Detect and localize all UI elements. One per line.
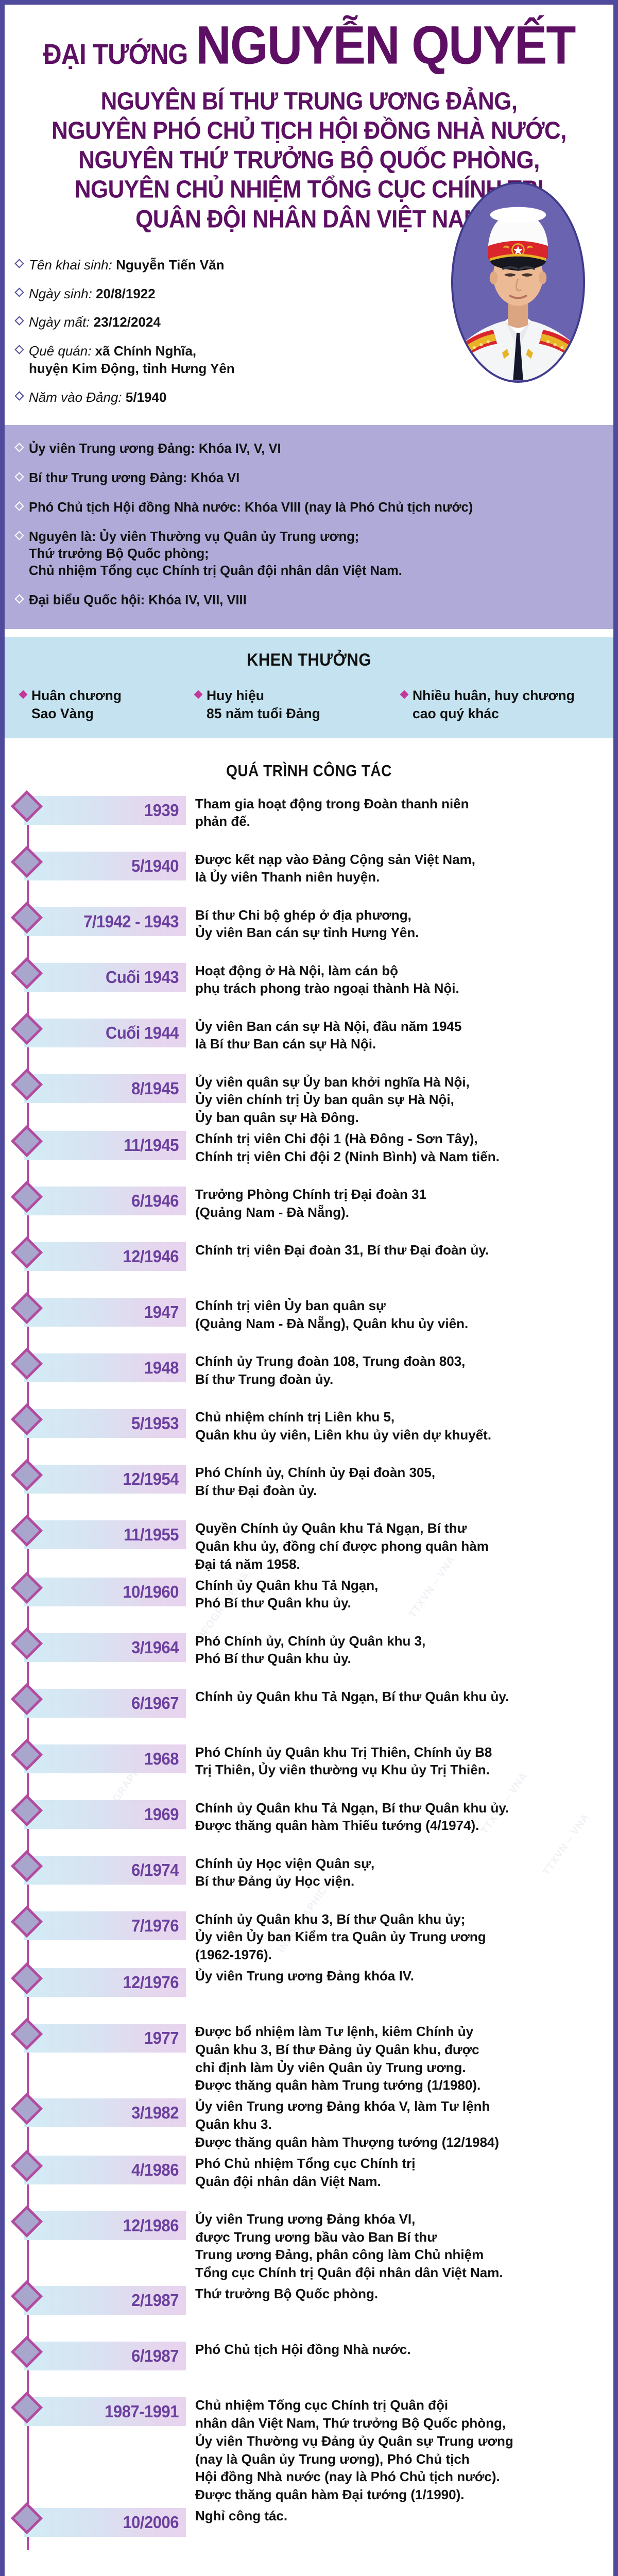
- timeline-node: [5, 2282, 49, 2308]
- timeline-description-line: Quân khu 3.: [195, 2115, 602, 2133]
- timeline-description-line: Bí thư Đảng ủy Học viện.: [195, 1872, 602, 1890]
- timeline-node: [5, 792, 49, 818]
- timeline-rows: 1939Tham gia hoạt động trong Đoàn thanh …: [5, 792, 605, 2560]
- timeline-description: Chủ nhiệm Tổng cục Chính trị Quân độinhâ…: [186, 2393, 605, 2504]
- diamond-node-icon: [11, 2150, 43, 2182]
- position-text: Ủy viên Trung ương Đảng: Khóa IV, V, VI: [29, 440, 281, 457]
- timeline-description-line: Đại tá năm 1958.: [195, 1555, 602, 1573]
- timeline-description-line: Bí thư Chi bộ ghép ở địa phương,: [195, 906, 602, 924]
- timeline-date-label: 6/1967: [131, 1693, 179, 1713]
- diamond-bullet-icon: [14, 345, 24, 354]
- timeline-entry: 7/1942 - 1943Bí thư Chi bộ ghép ở địa ph…: [5, 903, 605, 959]
- timeline-node: [5, 2207, 49, 2233]
- diamond-node-icon: [11, 1068, 43, 1100]
- award-line-2: cao quý khác: [413, 706, 499, 721]
- timeline-description-line: Chính trị viên Đại đoàn 31, Bí thư Đại đ…: [195, 1241, 602, 1259]
- timeline-node: [5, 903, 49, 929]
- timeline-node: [5, 1070, 49, 1096]
- subtitle-line-1: NGUYÊN BÍ THƯ TRUNG ƯƠNG ĐẢNG,: [25, 85, 593, 117]
- award-line-1: Huy hiệu: [207, 688, 264, 703]
- timeline-description: Phó Chính ủy, Chính ủy Đại đoàn 305,Bí t…: [186, 1461, 605, 1500]
- timeline-description-line: Trung ương Đảng, phân công làm Chủ nhiệm: [195, 2246, 602, 2264]
- diamond-node-icon: [11, 845, 43, 877]
- timeline-description: Chính ủy Quân khu Tả Ngạn,Phó Bí thư Quâ…: [186, 1573, 605, 1613]
- bio-label: Quê quán:: [29, 343, 91, 359]
- diamond-node-icon: [11, 2280, 43, 2312]
- timeline-date-label: 1948: [144, 1358, 179, 1378]
- diamond-node-icon: [11, 901, 43, 933]
- bio-label: Năm vào Đảng:: [29, 389, 122, 405]
- timeline-description-line: Bí thư Trung đoàn ủy.: [195, 1370, 602, 1388]
- position-text: Phó Chủ tịch Hội đồng Nhà nước: Khóa VII…: [29, 499, 473, 516]
- timeline-description: Ủy viên Ban cán sự Hà Nội, đầu năm 1945l…: [186, 1014, 605, 1054]
- diamond-node-icon: [11, 1403, 43, 1435]
- timeline-description-line: Nghỉ công tác.: [195, 2507, 602, 2525]
- timeline-date-label: 3/1964: [131, 1637, 179, 1657]
- person-name: NGUYỄN QUYẾT: [196, 18, 575, 73]
- timeline-node: [5, 1796, 49, 1822]
- timeline-description-line: Quyền Chính ủy Quân khu Tả Ngạn, Bí thư: [195, 1519, 602, 1537]
- timeline-description-line: phụ trách phong trào ngoại thành Hà Nội.: [195, 979, 602, 997]
- timeline-node: [5, 2504, 49, 2530]
- timeline-description: Nghỉ công tác.: [186, 2504, 605, 2525]
- timeline-node: [5, 848, 49, 873]
- title-block: ĐẠI TƯỚNG NGUYỄN QUYẾT: [25, 23, 593, 73]
- infographic-canvas: ĐẠI TƯỚNG NGUYỄN QUYẾT NGUYÊN BÍ THƯ TRU…: [5, 5, 613, 2576]
- timeline-description-line: Chủ nhiệm chính trị Liên khu 5,: [195, 1408, 602, 1426]
- timeline-node: [5, 1405, 49, 1431]
- portrait-illustration: [453, 184, 583, 381]
- timeline-description-line: (1962-1976).: [195, 1946, 602, 1964]
- timeline-date-label: 11/1945: [124, 1136, 179, 1156]
- timeline-node: [5, 2094, 49, 2120]
- timeline-description-line: Ủy viên Ủy ban Kiểm tra Quân ủy Trung ươ…: [195, 1928, 602, 1946]
- award-item-85-year-party-badge: Huy hiệu 85 năm tuổi Đảng: [195, 687, 401, 723]
- timeline-description-line: Quân khu 3, Bí thư Đảng ủy Quân khu, đượ…: [195, 2041, 602, 2059]
- awards-grid: Huân chương Sao Vàng Huy hiệu 85 năm tuổ…: [15, 687, 603, 723]
- diamond-node-icon: [11, 1962, 43, 1994]
- timeline-description-line: Phó Chính ủy, Chính ủy Quân khu 3,: [195, 1632, 602, 1650]
- timeline-entry: 6/1967Chính ủy Quân khu Tả Ngạn, Bí thư …: [5, 1685, 605, 1740]
- timeline-node: [5, 1907, 49, 1933]
- timeline-description-line: Phó Chủ tịch Hội đồng Nhà nước.: [195, 2341, 602, 2359]
- award-line-1: Nhiều huân, huy chương: [413, 688, 575, 703]
- timeline-node: [5, 1461, 49, 1486]
- timeline-description: Tham gia hoạt động trong Đoàn thanh niên…: [186, 792, 605, 831]
- timeline-entry: 1948Chính ủy Trung đoàn 108, Trung đoàn …: [5, 1349, 605, 1405]
- timeline-description: Trưởng Phòng Chính trị Đại đoàn 31(Quảng…: [186, 1182, 605, 1222]
- timeline-node: [5, 2337, 49, 2363]
- timeline-description: Phó Chính ủy Quân khu Trị Thiên, Chính ủ…: [186, 1740, 605, 1780]
- awards-title: KHEN THƯỞNG: [15, 649, 603, 670]
- timeline-description-line: Ủy ban quân sự Hà Đông.: [195, 1109, 602, 1127]
- diamond-bullet-icon: [14, 391, 24, 400]
- timeline-description-line: nhân dân Việt Nam, Thứ trưởng Bộ Quốc ph…: [195, 2414, 602, 2432]
- timeline-node: [5, 1294, 49, 1319]
- timeline-node: [5, 1349, 49, 1375]
- diamond-node-icon: [11, 1012, 43, 1044]
- timeline-description-line: Chính ủy Quân khu Tả Ngạn, Bí thư Quân k…: [195, 1799, 602, 1817]
- timeline-description: Bí thư Chi bộ ghép ở địa phương,Ủy viên …: [186, 903, 605, 942]
- timeline-entry: Cuối 1943Hoạt động ở Hà Nội, làm cán bộp…: [5, 959, 605, 1014]
- timeline-description: Được bổ nhiệm làm Tư lệnh, kiêm Chính ủy…: [186, 2020, 605, 2094]
- timeline-entry: 1947Chính trị viên Ủy ban quân sự(Quảng …: [5, 1294, 605, 1349]
- timeline-description: Chính ủy Học viện Quân sự,Bí thư Đảng ủy…: [186, 1852, 605, 1891]
- timeline-date-label: 1987-1991: [105, 2402, 179, 2422]
- timeline-node: [5, 1740, 49, 1766]
- timeline-entry: 6/1946Trưởng Phòng Chính trị Đại đoàn 31…: [5, 1182, 605, 1238]
- timeline-entry: 7/1976Chính ủy Quân khu 3, Bí thư Quân k…: [5, 1907, 605, 1964]
- timeline-description-line: Phó Bí thư Quân khu ủy.: [195, 1650, 602, 1668]
- timeline-description: Quyền Chính ủy Quân khu Tả Ngạn, Bí thưQ…: [186, 1516, 605, 1573]
- diamond-node-icon: [11, 1571, 43, 1603]
- award-item-gold-star-order: Huân chương Sao Vàng: [20, 687, 195, 723]
- timeline-date-label: 5/1953: [131, 1414, 179, 1434]
- timeline-date-label: 5/1940: [131, 856, 179, 876]
- bio-value: 5/1940: [126, 389, 167, 405]
- timeline-description-line: Chính ủy Trung đoàn 108, Trung đoàn 803,: [195, 1352, 602, 1370]
- timeline-description-line: (nay là Quân ủy Trung ương), Phó Chủ tịc…: [195, 2450, 602, 2468]
- diamond-node-icon: [11, 1738, 43, 1770]
- timeline-entry: 5/1953Chủ nhiệm chính trị Liên khu 5,Quâ…: [5, 1405, 605, 1461]
- timeline-description-line: Bí thư Đại đoàn ủy.: [195, 1482, 602, 1500]
- bio-row-party-year: Năm vào Đảng: 5/1940: [16, 389, 345, 406]
- timeline-description: Được kết nạp vào Đảng Cộng sản Việt Nam,…: [186, 848, 605, 887]
- award-line-2: Sao Vàng: [31, 706, 94, 721]
- bio-label: Ngày sinh:: [29, 286, 92, 301]
- timeline-description-line: Chính ủy Quân khu Tả Ngạn, Bí thư Quân k…: [195, 1688, 602, 1706]
- bio-row-birth-date: Ngày sinh: 20/8/1922: [16, 285, 345, 303]
- diamond-node-icon: [11, 1850, 43, 1882]
- timeline-entry: 3/1982Ủy viên Trung ương Đảng khóa V, là…: [5, 2094, 605, 2151]
- bio-value: Nguyễn Tiến Văn: [116, 257, 224, 273]
- diamond-node-icon: [11, 2093, 43, 2125]
- bio-value: xã Chính Nghĩa,: [95, 343, 196, 359]
- timeline-entry: 1969Chính ủy Quân khu Tả Ngạn, Bí thư Qu…: [5, 1796, 605, 1852]
- timeline-description: Chính ủy Quân khu 3, Bí thư Quân khu ủy;…: [186, 1907, 605, 1964]
- timeline-node: [5, 959, 49, 985]
- timeline-description: Hoạt động ở Hà Nội, làm cán bộphụ trách …: [186, 959, 605, 998]
- timeline-description-line: là Bí thư Ban cán sự Hà Nội.: [195, 1035, 602, 1053]
- rank-text: ĐẠI TƯỚNG: [43, 40, 188, 69]
- timeline-entry: 6/1987Phó Chủ tịch Hội đồng Nhà nước.: [5, 2337, 605, 2393]
- timeline-description-line: Ủy viên Ban cán sự Hà Nội, đầu năm 1945: [195, 1018, 602, 1036]
- diamond-node-icon: [11, 1236, 43, 1268]
- diamond-node-icon: [11, 1794, 43, 1826]
- timeline-node: [5, 1685, 49, 1710]
- position-row-former-roles: Nguyên là: Ủy viên Thường vụ Quân ủy Tru…: [16, 529, 600, 580]
- timeline-entry: Cuối 1944Ủy viên Ban cán sự Hà Nội, đầu …: [5, 1014, 605, 1070]
- timeline-date-label: 10/1960: [123, 1582, 179, 1602]
- diamond-bullet-icon: [14, 287, 24, 297]
- timeline-description: Ủy viên Trung ương Đảng khóa IV.: [186, 1964, 605, 1985]
- timeline-description-line: Được bổ nhiệm làm Tư lệnh, kiêm Chính ủy: [195, 2023, 602, 2041]
- timeline-entry: 2/1987Thứ trưởng Bộ Quốc phòng.: [5, 2282, 605, 2337]
- timeline-date-label: 11/1955: [124, 1525, 179, 1545]
- timeline-date-label: 6/1946: [131, 1191, 179, 1211]
- diamond-node-icon: [11, 2206, 43, 2238]
- timeline-node: [5, 1127, 49, 1153]
- diamond-bullet-icon: [14, 472, 24, 481]
- diamond-node-icon: [11, 1125, 43, 1157]
- timeline-date-label: 12/1946: [123, 1247, 179, 1267]
- timeline-date-label: 2/1987: [131, 2291, 179, 2311]
- portrait-photo: [451, 182, 585, 383]
- timeline: 1939Tham gia hoạt động trong Đoàn thanh …: [5, 792, 613, 2560]
- timeline-date-label: 12/1976: [123, 1973, 179, 1993]
- bio-value: 23/12/2024: [94, 314, 161, 330]
- timeline-node: [5, 1573, 49, 1599]
- timeline-description: Phó Chủ tịch Hội đồng Nhà nước.: [186, 2337, 605, 2359]
- bio-label: Tên khai sinh:: [29, 257, 112, 273]
- timeline-description-line: Tổng cục Chính trị Quân đội nhân dân Việ…: [195, 2264, 602, 2282]
- timeline-node: [5, 1964, 49, 1990]
- diamond-node-icon: [11, 1683, 43, 1715]
- timeline-description-line: Được thăng quân hàm Đại tướng (1/1990).: [195, 2486, 602, 2504]
- timeline-date-label: 3/1982: [131, 2103, 179, 2123]
- timeline-date-label: 10/2006: [123, 2513, 179, 2533]
- diamond-node-icon: [11, 2502, 43, 2534]
- timeline-description-line: Hội đồng Nhà nước (nay là Phó Chủ tịch n…: [195, 2468, 602, 2486]
- diamond-bullet-icon: [14, 595, 24, 604]
- diamond-node-icon: [11, 1627, 43, 1659]
- position-text: Bí thư Trung ương Đảng: Khóa VI: [29, 470, 239, 487]
- timeline-entry: 8/1945Ủy viên quân sự Ủy ban khởi nghĩa …: [5, 1070, 605, 1127]
- timeline-description-line: Được thăng quân hàm Thượng tướng (12/198…: [195, 2133, 602, 2151]
- timeline-entry: 12/1946Chính trị viên Đại đoàn 31, Bí th…: [5, 1238, 605, 1294]
- timeline-description: Thứ trưởng Bộ Quốc phòng.: [186, 2282, 605, 2303]
- timeline-description-line: Phó Chính ủy Quân khu Trị Thiên, Chính ủ…: [195, 1743, 602, 1761]
- timeline-description-line: Chính ủy Quân khu Tả Ngạn,: [195, 1577, 602, 1595]
- timeline-description-line: chỉ định làm Ủy viên Quân ủy Trung ương.: [195, 2059, 602, 2077]
- timeline-date-label: 1977: [144, 2028, 179, 2048]
- bio-value-cont: huyện Kim Động, tỉnh Hưng Yên: [29, 361, 235, 376]
- timeline-node: [5, 1516, 49, 1542]
- position-text: Đại biểu Quốc hội: Khóa IV, VII, VIII: [29, 592, 247, 609]
- timeline-node: [5, 1852, 49, 1877]
- position-row-vice-chair-state-council: Phó Chủ tịch Hội đồng Nhà nước: Khóa VII…: [16, 499, 600, 516]
- diamond-node-icon: [11, 2392, 43, 2424]
- diamond-node-icon: [11, 1459, 43, 1491]
- diamond-node-icon: [11, 1515, 43, 1547]
- timeline-entry: 4/1986Phó Chủ nhiệm Tổng cục Chính trịQu…: [5, 2151, 605, 2207]
- diamond-node-icon: [11, 1181, 43, 1213]
- timeline-description-line: Trưởng Phòng Chính trị Đại đoàn 31: [195, 1185, 602, 1204]
- timeline-description-line: Phó Chính ủy, Chính ủy Đại đoàn 305,: [195, 1464, 602, 1482]
- timeline-description-line: Chính ủy Học viện Quân sự,: [195, 1855, 602, 1873]
- timeline-description-line: Trị Thiên, Ủy viên thường vụ Khu ủy Trị …: [195, 1761, 602, 1779]
- timeline-entry: 12/1986Ủy viên Trung ương Đảng khóa VI,đ…: [5, 2207, 605, 2282]
- timeline-description-line: Quân khu ủy viên, Liên khu ủy viên dự kh…: [195, 1426, 602, 1444]
- timeline-description-line: phản đế.: [195, 812, 602, 831]
- timeline-description-line: Được thăng quân hàm Thiếu tướng (4/1974)…: [195, 1817, 602, 1835]
- timeline-description: Ủy viên Trung ương Đảng khóa VI,được Tru…: [186, 2207, 605, 2282]
- timeline-date-label: 8/1945: [131, 1078, 179, 1098]
- timeline-entry: 10/1960Chính ủy Quân khu Tả Ngạn,Phó Bí …: [5, 1573, 605, 1629]
- timeline-entry: 1987-1991Chủ nhiệm Tổng cục Chính trị Qu…: [5, 2393, 605, 2504]
- timeline-date-label: 1939: [144, 800, 179, 820]
- diamond-node-icon: [11, 1292, 43, 1324]
- timeline-description-line: Quân đội nhân dân Việt Nam.: [195, 2173, 602, 2191]
- timeline-description-line: Phó Chủ nhiệm Tổng cục Chính trị: [195, 2155, 602, 2173]
- timeline-date-label: Cuối 1943: [106, 967, 179, 987]
- timeline-description-line: Ủy viên Trung ương Đảng khóa IV.: [195, 1967, 602, 1985]
- timeline-title: QUÁ TRÌNH CÔNG TÁC: [5, 735, 613, 794]
- timeline-date-label: 1947: [144, 1302, 179, 1323]
- timeline-description-line: Chính trị viên Ủy ban quân sự: [195, 1297, 602, 1315]
- timeline-node: [5, 1629, 49, 1655]
- timeline-entry: 12/1976Ủy viên Trung ương Đảng khóa IV.: [5, 1964, 605, 2020]
- timeline-entry: 12/1954Phó Chính ủy, Chính ủy Đại đoàn 3…: [5, 1461, 605, 1516]
- timeline-description: Ủy viên Trung ương Đảng khóa V, làm Tư l…: [186, 2094, 605, 2151]
- timeline-node: [5, 2151, 49, 2177]
- timeline-description: Chính trị viên Ủy ban quân sự(Quảng Nam …: [186, 1294, 605, 1333]
- timeline-description-line: Tham gia hoạt động trong Đoàn thanh niên: [195, 795, 602, 813]
- timeline-description-line: Ủy viên Thường vụ Đảng ủy Quân sự Trung …: [195, 2432, 602, 2450]
- timeline-entry: 11/1945Chính trị viên Chi đội 1 (Hà Đông…: [5, 1127, 605, 1182]
- positions-panel: Ủy viên Trung ương Đảng: Khóa IV, V, VI …: [5, 425, 613, 629]
- timeline-description-line: Ủy viên quân sự Ủy ban khởi nghĩa Hà Nội…: [195, 1073, 602, 1091]
- timeline-date-label: 1969: [144, 1804, 179, 1824]
- timeline-date-label: 7/1976: [131, 1916, 179, 1936]
- timeline-description-line: Chính trị viên Chi đội 2 (Ninh Bình) và …: [195, 1148, 602, 1166]
- position-text-line2: Thứ trưởng Bộ Quốc phòng;: [29, 546, 402, 563]
- timeline-node: [5, 2020, 49, 2045]
- award-line-1: Huân chương: [31, 688, 122, 703]
- timeline-description-line: Hoạt động ở Hà Nội, làm cán bộ: [195, 962, 602, 980]
- timeline-entry: 1968Phó Chính ủy Quân khu Trị Thiên, Chí…: [5, 1740, 605, 1796]
- timeline-node: [5, 1014, 49, 1040]
- timeline-node: [5, 2393, 49, 2419]
- timeline-entry: 1977Được bổ nhiệm làm Tư lệnh, kiêm Chín…: [5, 2020, 605, 2094]
- bio-list: Tên khai sinh: Nguyễn Tiến Văn Ngày sinh…: [5, 257, 345, 418]
- position-text: Nguyên là: Ủy viên Thường vụ Quân ủy Tru…: [29, 529, 402, 546]
- timeline-date-label: 12/1986: [123, 2215, 179, 2235]
- bio-row-birth-name: Tên khai sinh: Nguyễn Tiến Văn: [16, 257, 345, 274]
- timeline-date-label: 4/1986: [131, 2160, 179, 2180]
- timeline-description-line: Được kết nạp vào Đảng Cộng sản Việt Nam,: [195, 851, 602, 869]
- timeline-date-label: 1968: [144, 1749, 179, 1769]
- diamond-node-icon: [11, 2018, 43, 2050]
- timeline-description-line: Ủy viên Trung ương Đảng khóa V, làm Tư l…: [195, 2097, 602, 2115]
- award-line-2: 85 năm tuổi Đảng: [207, 706, 320, 721]
- timeline-description-line: Ủy viên Trung ương Đảng khóa VI,: [195, 2210, 602, 2228]
- timeline-description-line: Ủy viên chính trị Ủy ban quân sự Hà Nội,: [195, 1091, 602, 1109]
- timeline-description: Phó Chính ủy, Chính ủy Quân khu 3,Phó Bí…: [186, 1629, 605, 1668]
- timeline-description-line: Chính trị viên Chi đội 1 (Hà Đông - Sơn …: [195, 1130, 602, 1148]
- timeline-date-label: Cuối 1944: [106, 1023, 179, 1043]
- timeline-description-line: Ủy viên Ban cán sự tỉnh Hưng Yên.: [195, 924, 602, 942]
- timeline-description: Chính ủy Trung đoàn 108, Trung đoàn 803,…: [186, 1349, 605, 1388]
- diamond-node-icon: [11, 1348, 43, 1380]
- diamond-bullet-icon: [194, 690, 203, 699]
- timeline-entry: 1939Tham gia hoạt động trong Đoàn thanh …: [5, 792, 605, 848]
- position-row-national-assembly: Đại biểu Quốc hội: Khóa IV, VII, VIII: [16, 592, 600, 609]
- diamond-bullet-icon: [14, 259, 24, 268]
- diamond-node-icon: [11, 790, 43, 822]
- position-text-line3: Chủ nhiệm Tổng cục Chính trị Quân đội nh…: [29, 563, 402, 580]
- timeline-description: Phó Chủ nhiệm Tổng cục Chính trịQuân đội…: [186, 2151, 605, 2191]
- timeline-description-line: Quân khu ủy, đồng chí được phong quân hà…: [195, 1537, 602, 1555]
- diamond-bullet-icon: [14, 531, 24, 540]
- position-row-central-committee: Ủy viên Trung ương Đảng: Khóa IV, V, VI: [16, 440, 600, 457]
- timeline-description: Chính ủy Quân khu Tả Ngạn, Bí thư Quân k…: [186, 1796, 605, 1835]
- bio-row-death-date: Ngày mất: 23/12/2024: [16, 314, 345, 331]
- diamond-bullet-icon: [14, 316, 24, 326]
- awards-panel: KHEN THƯỞNG Huân chương Sao Vàng Huy hiệ…: [5, 637, 613, 738]
- timeline-description-line: Chủ nhiệm Tổng cục Chính trị Quân đội: [195, 2396, 602, 2414]
- timeline-date-label: 6/1987: [131, 2346, 179, 2366]
- diamond-node-icon: [11, 957, 43, 989]
- timeline-entry: 6/1974Chính ủy Học viện Quân sự,Bí thư Đ…: [5, 1852, 605, 1907]
- timeline-date-label: 7/1942 - 1943: [83, 911, 179, 931]
- position-row-secretariat: Bí thư Trung ương Đảng: Khóa VI: [16, 470, 600, 487]
- timeline-description-line: là Ủy viên Thanh niên huyện.: [195, 868, 602, 886]
- timeline-description-line: (Quảng Nam - Đà Nẵng), Quân khu ủy viên.: [195, 1315, 602, 1333]
- subtitle-line-2: NGUYÊN PHÓ CHỦ TỊCH HỘI ĐỒNG NHÀ NƯỚC,: [25, 114, 593, 147]
- timeline-entry: 3/1964Phó Chính ủy, Chính ủy Quân khu 3,…: [5, 1629, 605, 1685]
- timeline-node: [5, 1238, 49, 1264]
- timeline-description: Chủ nhiệm chính trị Liên khu 5,Quân khu …: [186, 1405, 605, 1444]
- diamond-bullet-icon: [14, 501, 24, 511]
- timeline-date-label: 12/1954: [123, 1469, 179, 1489]
- timeline-description-line: Thứ trưởng Bộ Quốc phòng.: [195, 2285, 602, 2303]
- timeline-description-line: Chính ủy Quân khu 3, Bí thư Quân khu ủy;: [195, 1910, 602, 1928]
- footer-spacer: [5, 2560, 613, 2576]
- timeline-description-line: Phó Bí thư Quân khu ủy.: [195, 1594, 602, 1612]
- timeline-node: [5, 1182, 49, 1208]
- award-item-other-honours: Nhiều huân, huy chương cao quý khác: [401, 687, 598, 723]
- timeline-description-line: được Trung ương bầu vào Ban Bí thư: [195, 2228, 602, 2246]
- timeline-description: Chính ủy Quân khu Tả Ngạn, Bí thư Quân k…: [186, 1685, 605, 1706]
- timeline-description-line: Được thăng quân hàm Trung tướng (1/1980)…: [195, 2076, 602, 2094]
- timeline-description-line: (Quảng Nam - Đà Nẵng).: [195, 1204, 602, 1222]
- subtitle-line-3: NGUYÊN THỨ TRƯỞNG BỘ QUỐC PHÒNG,: [25, 144, 593, 176]
- timeline-description: Chính trị viên Đại đoàn 31, Bí thư Đại đ…: [186, 1238, 605, 1259]
- bio-value: 20/8/1922: [96, 286, 156, 301]
- bio-label: Ngày mất:: [29, 314, 90, 330]
- infographic-page: ĐẠI TƯỚNG NGUYỄN QUYẾT NGUYÊN BÍ THƯ TRU…: [0, 0, 618, 2576]
- timeline-entry: 10/2006Nghỉ công tác.: [5, 2504, 605, 2560]
- timeline-description: Chính trị viên Chi đội 1 (Hà Đông - Sơn …: [186, 1127, 605, 1166]
- diamond-node-icon: [11, 2336, 43, 2368]
- timeline-date-label: 6/1974: [131, 1860, 179, 1880]
- timeline-entry: 11/1955Quyền Chính ủy Quân khu Tả Ngạn, …: [5, 1516, 605, 1573]
- diamond-node-icon: [11, 1905, 43, 1937]
- timeline-entry: 5/1940Được kết nạp vào Đảng Cộng sản Việ…: [5, 848, 605, 903]
- bio-row-hometown: Quê quán: xã Chính Nghĩa, huyện Kim Động…: [16, 343, 345, 378]
- timeline-description: Ủy viên quân sự Ủy ban khởi nghĩa Hà Nội…: [186, 1070, 605, 1127]
- diamond-bullet-icon: [19, 690, 28, 699]
- diamond-bullet-icon: [400, 690, 409, 699]
- bio-section: Tên khai sinh: Nguyễn Tiến Văn Ngày sinh…: [5, 236, 613, 418]
- diamond-bullet-icon: [14, 443, 24, 452]
